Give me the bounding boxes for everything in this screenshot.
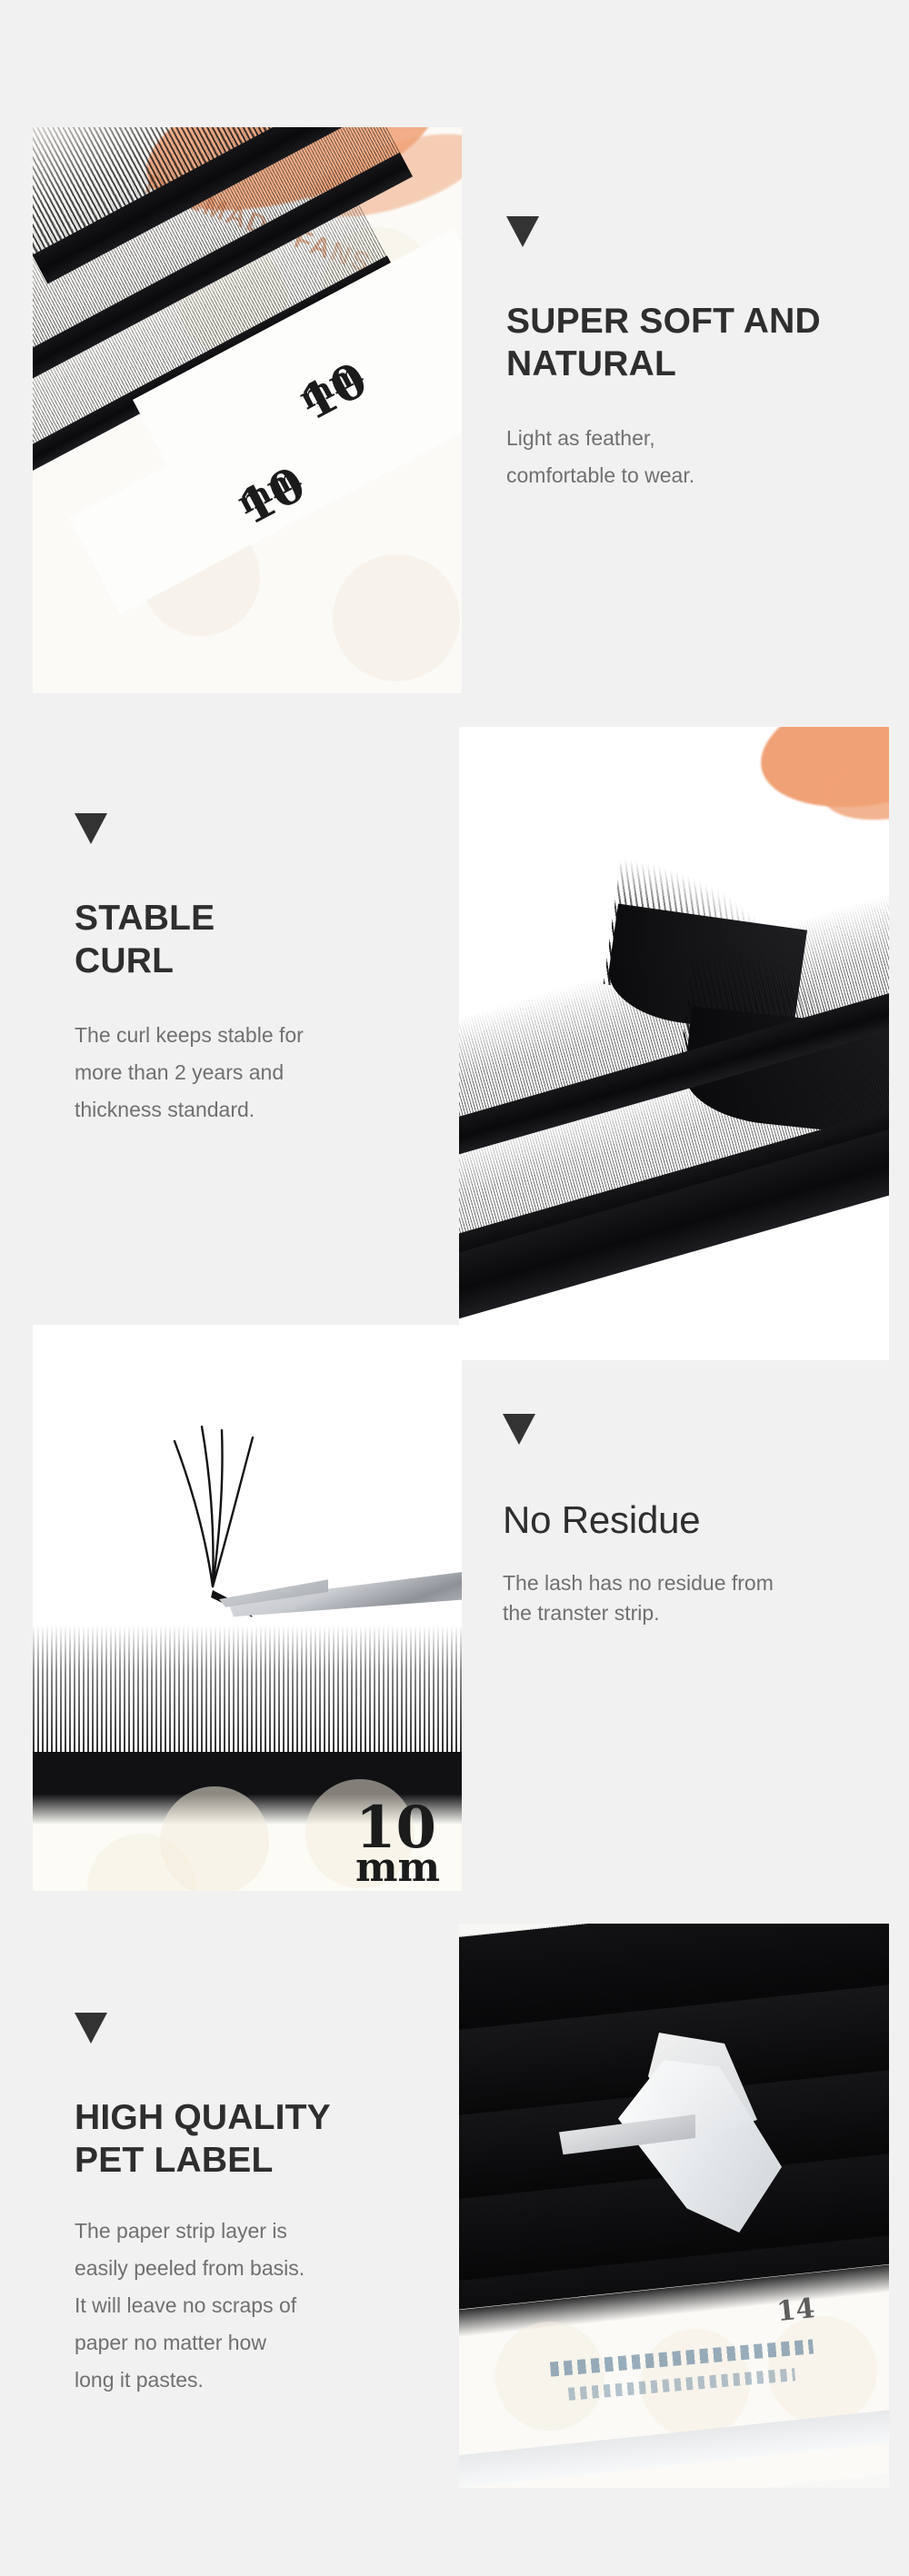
section-body: Light as feather, comfortable to wear.: [506, 420, 870, 494]
triangle-down-marker: [75, 2013, 107, 2044]
section-high-quality-pet-label: HIGH QUALITY PET LABEL The paper strip l…: [75, 2013, 438, 2399]
section-heading: SUPER SOFT AND NATURAL: [506, 300, 870, 385]
lash-tray-closeup-photo: PREMADE FANS E 10 mm 10 mm: [33, 127, 462, 693]
section-body: The curl keeps stable for more than 2 ye…: [75, 1017, 438, 1129]
tweezer-lash-fan-photo: 10 mm: [33, 1325, 462, 1891]
section-heading: STABLE CURL: [75, 897, 438, 982]
section-stable-curl: STABLE CURL The curl keeps stable for mo…: [75, 813, 438, 1129]
triangle-down-marker: [503, 1414, 535, 1445]
section-body: The lash has no residue from the transte…: [503, 1568, 884, 1628]
triangle-down-marker: [75, 813, 107, 844]
section-heading: No Residue: [503, 1497, 884, 1543]
section-super-soft-and-natural: SUPER SOFT AND NATURAL Light as feather,…: [506, 216, 870, 494]
lash-fan-illustration: [33, 1325, 462, 1625]
section-body: The paper strip layer is easily peeled f…: [75, 2213, 438, 2399]
section-no-residue: No Residue The lash has no residue from …: [503, 1414, 884, 1628]
triangle-down-marker: [506, 216, 539, 247]
section-heading: HIGH QUALITY PET LABEL: [75, 2096, 438, 2182]
curled-lash-fans-photo: [459, 727, 889, 1360]
size-unit-label: mm: [355, 1852, 440, 1885]
product-feature-page: PREMADE FANS E 10 mm 10 mm: [0, 0, 909, 2576]
peeling-pet-label-photo: 14: [459, 1924, 889, 2488]
